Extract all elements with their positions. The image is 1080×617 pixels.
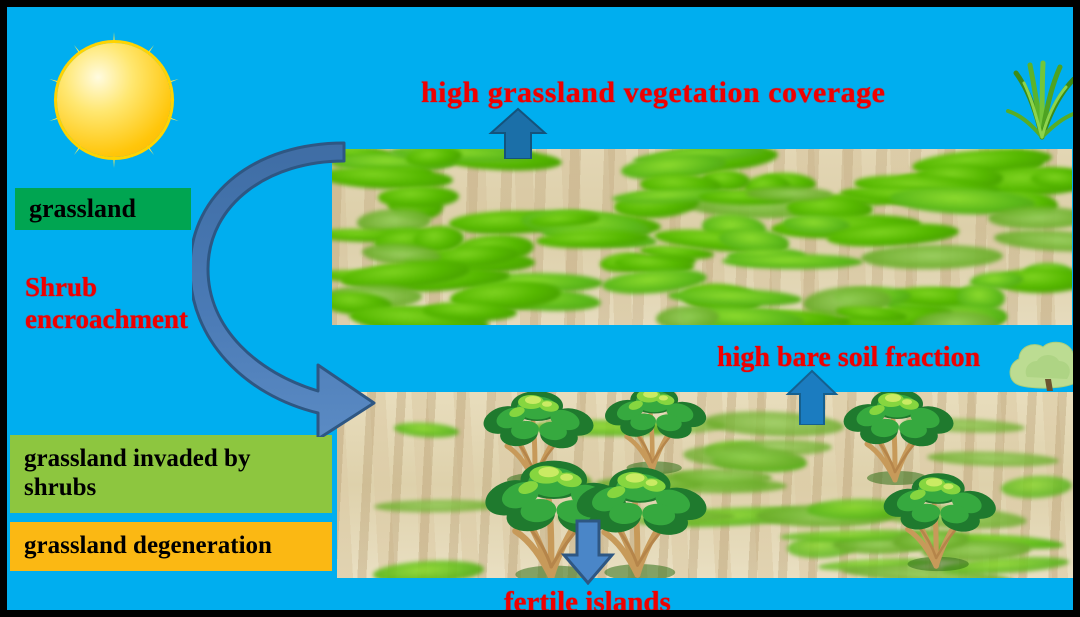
figure-canvas: grassland grassland invaded by shrubs gr…	[0, 0, 1080, 617]
bush-icon	[1007, 339, 1080, 397]
legend-item-grassland-degeneration: grassland degeneration	[10, 522, 332, 571]
legend-label-degeneration: grassland degeneration	[24, 532, 272, 561]
sun-icon	[29, 15, 199, 185]
up-arrow-vegetation-coverage	[487, 107, 549, 159]
legend-item-grassland-invaded-by-shrubs: grassland invaded by shrubs	[10, 435, 332, 513]
label-shrub-encroachment: Shrub encroachment	[25, 272, 188, 336]
down-arrow-fertile-islands	[559, 519, 617, 585]
shrub-invaded-photo-panel	[337, 392, 1073, 578]
legend-label-invaded: grassland invaded by shrubs	[24, 445, 318, 503]
grass-tuft-icon	[1002, 59, 1080, 141]
label-high-grassland-vegetation-coverage: high grassland vegetation coverage	[421, 75, 885, 110]
up-arrow-bare-soil	[784, 369, 840, 425]
grass-clump	[746, 186, 833, 200]
grass-clump	[722, 253, 863, 269]
curved-transition-arrow	[192, 137, 382, 437]
label-high-bare-soil-fraction: high bare soil fraction	[717, 341, 980, 374]
label-fertile-islands: fertile islands	[504, 585, 671, 617]
legend-label-grassland: grassland	[29, 194, 136, 224]
shrub	[877, 460, 999, 572]
sun-disc	[57, 43, 171, 157]
grassland-photo-panel	[332, 149, 1072, 325]
legend-item-grassland: grassland	[15, 188, 191, 230]
